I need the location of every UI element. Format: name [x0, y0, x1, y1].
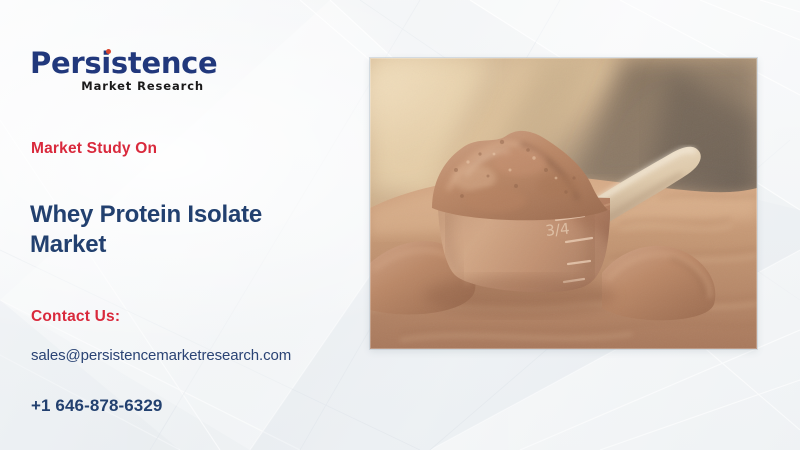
contact-email[interactable]: sales@persistencemarketresearch.com — [31, 347, 291, 364]
contact-us-label: Contact Us: — [31, 308, 120, 326]
brand-logo[interactable]: Persistence Market Research — [30, 48, 205, 93]
page-title: Whey Protein Isolate Market — [30, 200, 335, 260]
contact-phone[interactable]: +1 646-878-6329 — [31, 396, 162, 416]
whey-protein-scoop-photo: 3/4 — [370, 58, 757, 349]
marketing-slide: Persistence Market Research Market Study… — [0, 0, 800, 450]
logo-tagline: Market Research — [30, 79, 205, 93]
eyebrow-label: Market Study On — [31, 140, 157, 158]
red-dot-icon — [106, 49, 111, 54]
logo-wordmark: Persistence — [30, 48, 205, 78]
logo-wordmark-text: Persistence — [30, 46, 217, 80]
